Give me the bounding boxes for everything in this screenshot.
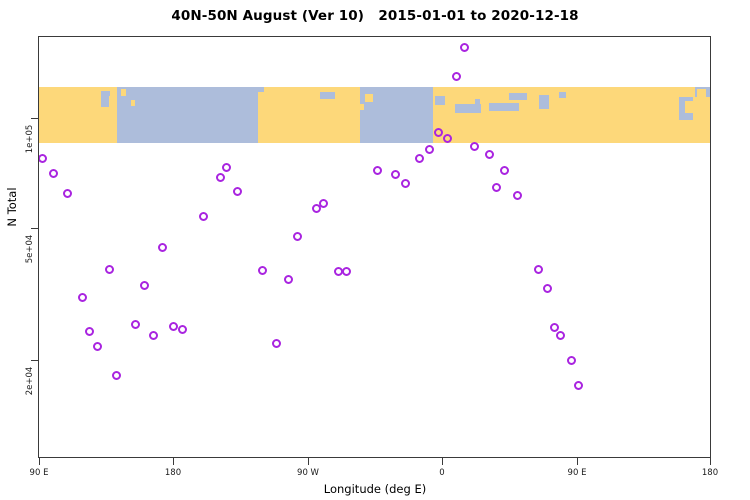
scatter-point — [63, 189, 72, 198]
y-tick-label-5e04: 5e+04 — [25, 229, 35, 269]
coast-iberia-bay — [435, 96, 445, 105]
x-tick-label-4: 90 E — [547, 468, 607, 478]
land-eurasia — [433, 87, 710, 144]
scatter-point — [425, 145, 434, 154]
scatter-point — [534, 265, 543, 274]
x-tick-mark-1 — [173, 458, 174, 465]
figure-canvas: 40N-50N August (Ver 10) 2015-01-01 to 20… — [0, 0, 750, 500]
isle-sakhalin — [131, 100, 135, 106]
coast-adriatic — [475, 99, 480, 109]
scatter-point — [93, 342, 102, 351]
scatter-point — [373, 166, 382, 175]
chart-title: 40N-50N August (Ver 10) 2015-01-01 to 20… — [0, 8, 750, 24]
scatter-point — [513, 191, 522, 200]
scatter-point — [149, 331, 158, 340]
isle-kuril — [121, 89, 126, 96]
scatter-point — [401, 179, 410, 188]
scatter-point — [78, 293, 87, 302]
scatter-point — [178, 325, 187, 334]
scatter-point — [158, 243, 167, 252]
x-tick-label-2: 90 W — [278, 468, 338, 478]
scatter-point — [574, 381, 583, 390]
plot-area: Land (Nadir&Glint) and Ocean (Glint) — [38, 36, 711, 458]
x-tick-label-3: 0 — [412, 468, 472, 478]
isle-nova-scotia — [357, 104, 364, 110]
scatter-point — [470, 142, 479, 151]
scatter-point — [258, 266, 267, 275]
scatter-point — [492, 183, 501, 192]
x-tick-label-0: 90 E — [9, 468, 69, 478]
scatter-point — [500, 166, 509, 175]
x-tick-mark-3 — [442, 458, 443, 465]
scatter-point — [543, 284, 552, 293]
scatter-point — [222, 163, 231, 172]
scatter-point — [391, 170, 400, 179]
scatter-point — [233, 187, 242, 196]
isle-japan — [109, 96, 115, 107]
scatter-point — [452, 72, 461, 81]
scatter-point — [342, 267, 351, 276]
scatter-point — [460, 43, 469, 52]
scatter-point — [38, 154, 47, 163]
scatter-point — [485, 150, 494, 159]
land-north-america — [258, 87, 360, 144]
scatter-point — [319, 199, 328, 208]
y-axis-title: N Total — [5, 167, 19, 247]
coast-caspian-sea — [539, 95, 549, 109]
scatter-point — [415, 154, 424, 163]
x-tick-mark-4 — [577, 458, 578, 465]
scatter-point — [272, 339, 281, 348]
scatter-point — [140, 281, 149, 290]
scatter-point — [85, 327, 94, 336]
scatter-point — [284, 275, 293, 284]
scatter-point — [105, 265, 114, 274]
x-tick-mark-0 — [39, 458, 40, 465]
scatter-point — [556, 331, 565, 340]
isle-newfoundland — [365, 94, 373, 102]
x-tick-mark-2 — [308, 458, 309, 465]
x-axis-title: Longitude (deg E) — [0, 482, 750, 496]
coast-mediterranean-east — [489, 103, 519, 111]
x-tick-label-5: 180 — [680, 468, 740, 478]
coast-black-sea — [509, 93, 527, 100]
scatter-point — [216, 173, 225, 182]
coast-aral-sea — [559, 92, 566, 98]
scatter-point — [293, 232, 302, 241]
y-tick-label-2e04: 2e+04 — [25, 361, 35, 401]
x-tick-mark-5 — [710, 458, 711, 465]
scatter-point — [112, 371, 121, 380]
coast-pacific-nw — [258, 87, 264, 92]
coast-great-lakes — [320, 92, 335, 99]
scatter-point — [567, 356, 576, 365]
scatter-point — [49, 169, 58, 178]
y-tick-label-1e05: 1e+05 — [25, 119, 35, 159]
isle-honshu-east — [685, 101, 693, 113]
scatter-point — [169, 322, 178, 331]
scatter-point — [443, 134, 452, 143]
x-tick-label-1: 180 — [143, 468, 203, 478]
isle-hokkaido-east — [697, 89, 706, 98]
scatter-point — [131, 320, 140, 329]
world-map-band — [39, 87, 710, 144]
scatter-point — [199, 212, 208, 221]
